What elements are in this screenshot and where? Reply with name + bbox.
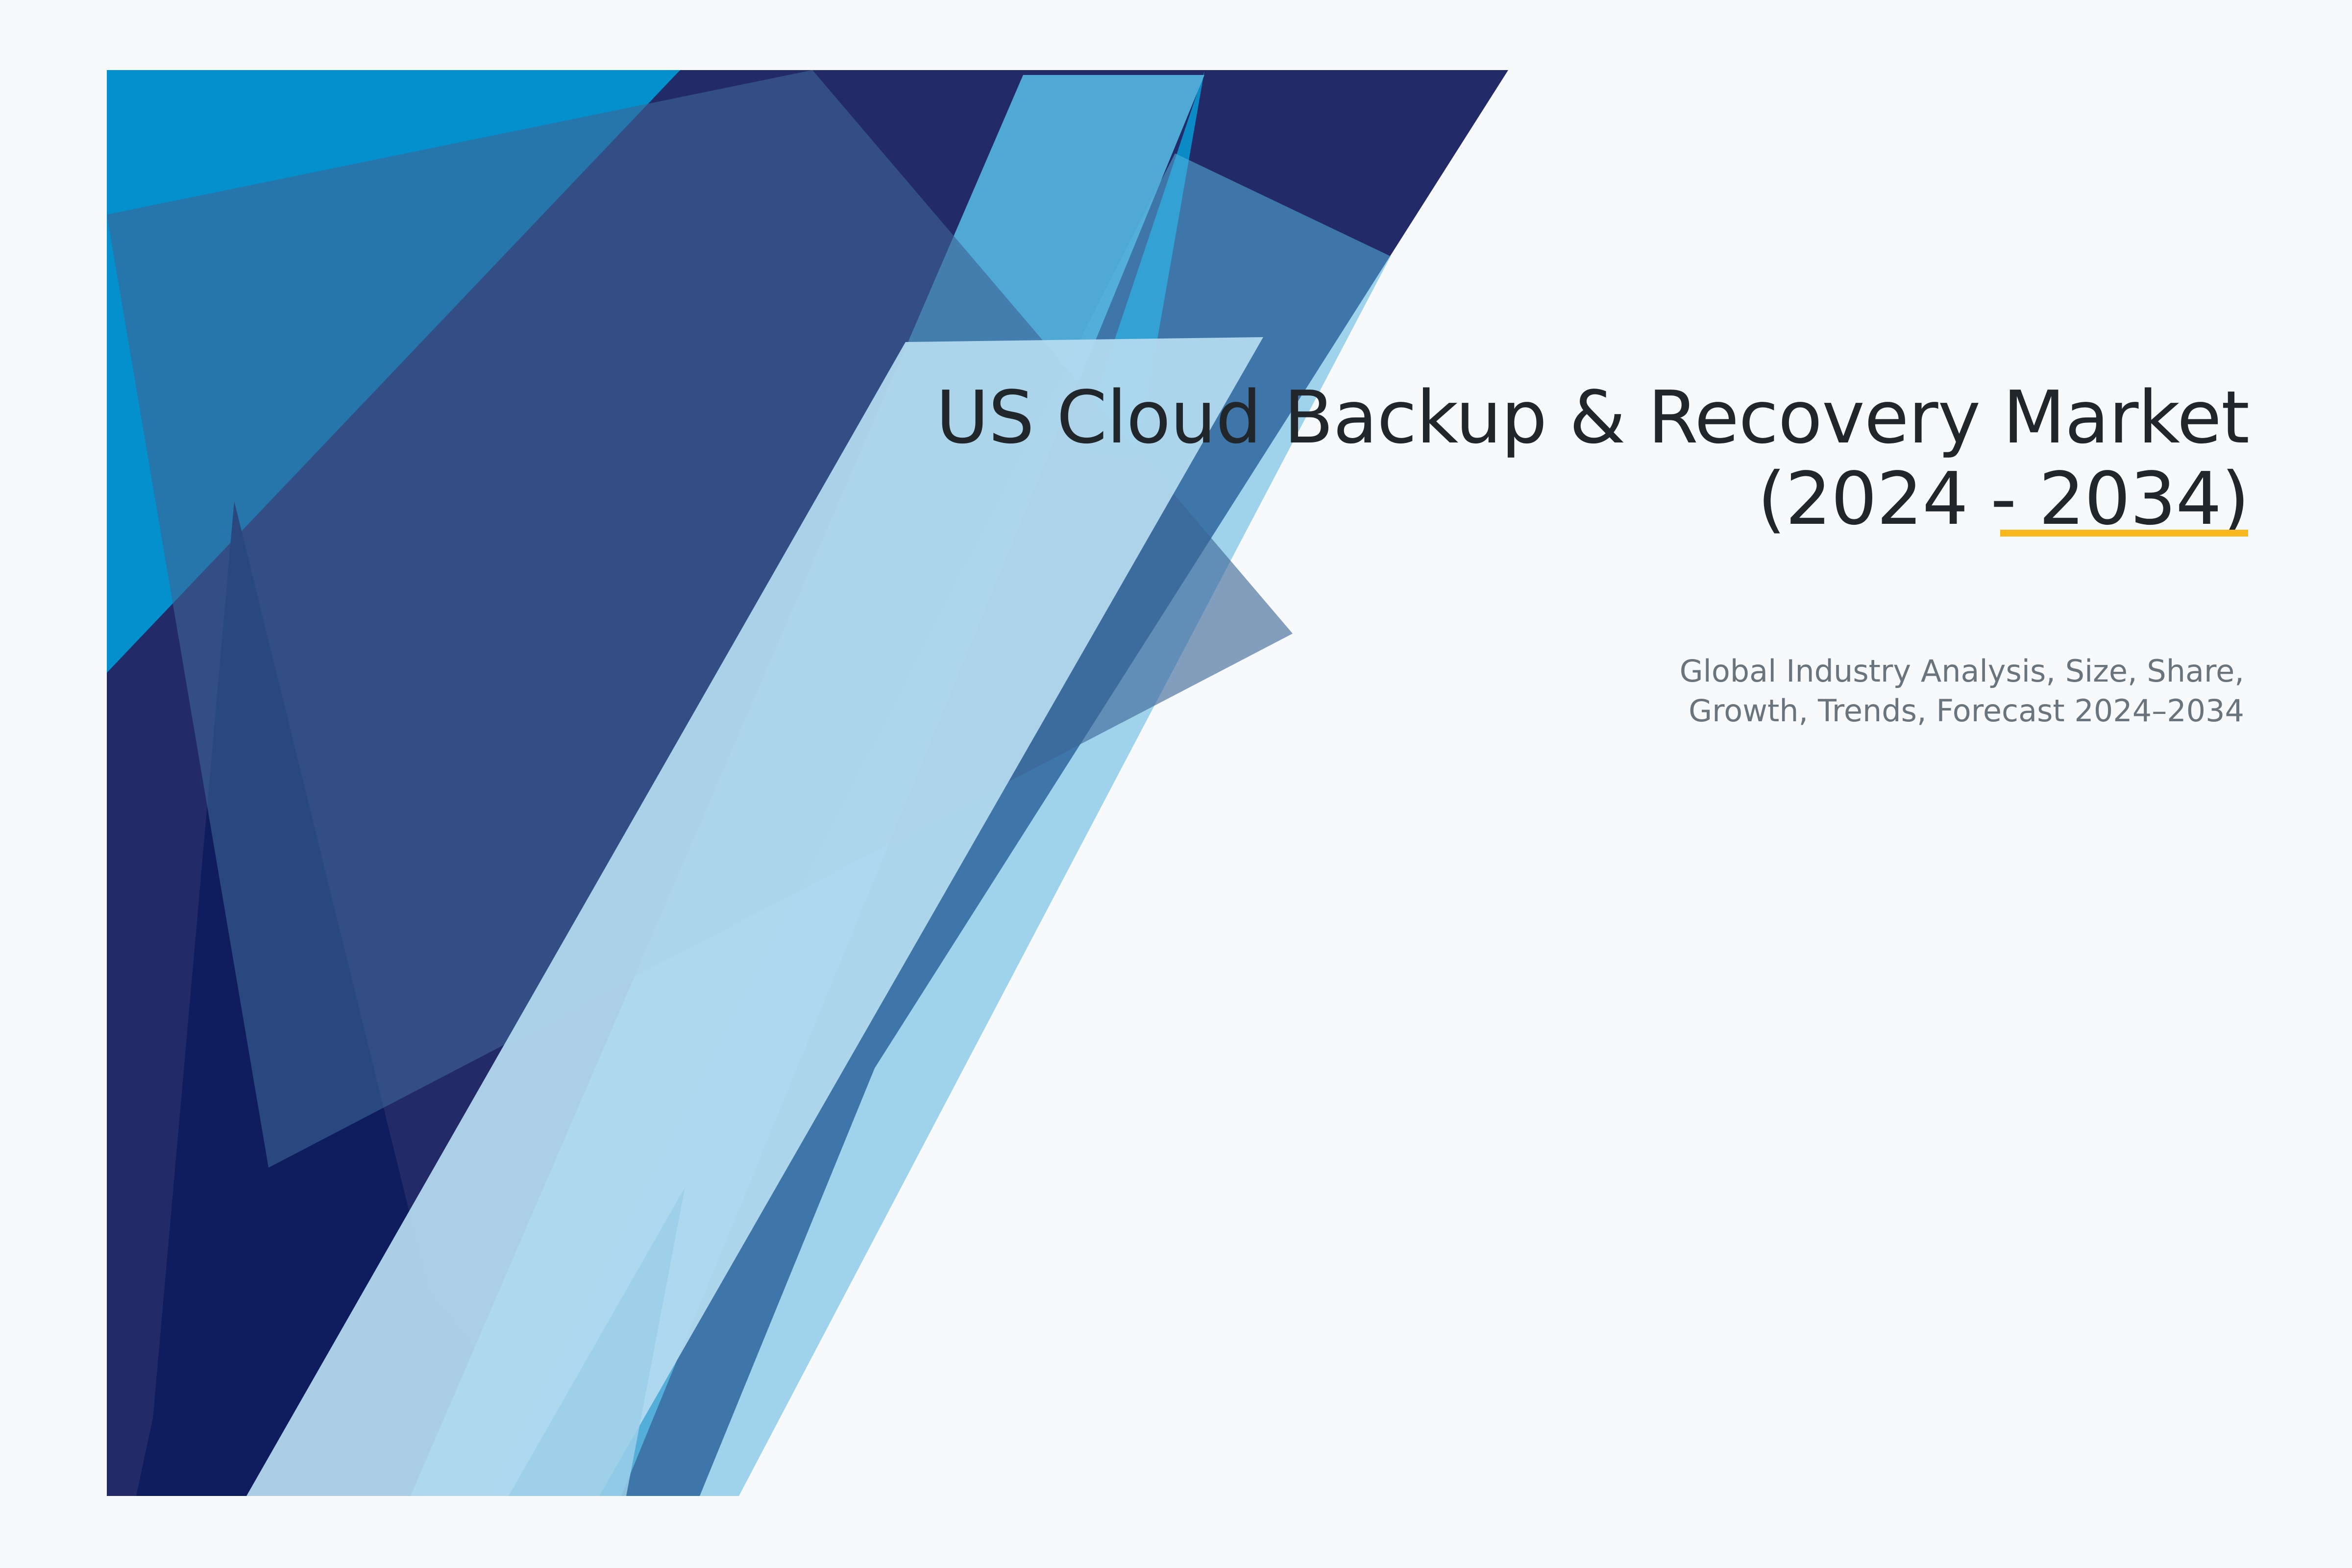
cover-artwork: [107, 70, 1508, 1496]
subtitle-block: Global Industry Analysis, Size, Share, G…: [1421, 652, 2244, 731]
page-title: US Cloud Backup & Recovery Market (2024 …: [833, 377, 2249, 540]
page-subtitle: Global Industry Analysis, Size, Share, G…: [1421, 652, 2244, 731]
cover-slide: US Cloud Backup & Recovery Market (2024 …: [0, 0, 2352, 1568]
title-underline-accent: [2000, 530, 2248, 537]
title-block: US Cloud Backup & Recovery Market (2024 …: [833, 377, 2249, 540]
